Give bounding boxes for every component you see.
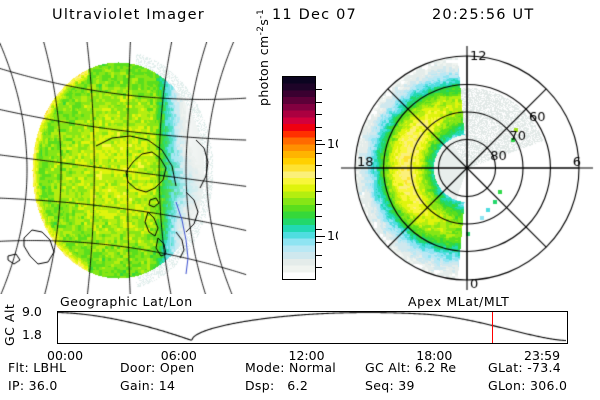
status-flt: Flt: LBHL bbox=[8, 360, 66, 375]
geographic-aurora-image bbox=[0, 42, 262, 294]
orbit-altitude-strip: GC Alt 9.0 1.8 00:0006:0012:0018:0023:59 bbox=[0, 306, 600, 356]
colorbar: 10010 photon cm-2s-1 bbox=[282, 76, 336, 282]
status-dsp: Dsp: 6.2 bbox=[245, 378, 308, 393]
uvi-display: Ultraviolet Imager 11 Dec 07 20:25:56 UT… bbox=[0, 0, 600, 400]
gc-alt-tick-min: 1.8 bbox=[22, 327, 42, 342]
observation-date: 11 Dec 07 bbox=[272, 7, 357, 23]
instrument-title: Ultraviolet Imager bbox=[52, 7, 205, 23]
geographic-image-panel bbox=[0, 42, 262, 294]
current-time-marker bbox=[492, 312, 493, 343]
orbit-altitude-curve bbox=[57, 311, 566, 342]
status-seq: Seq: 39 bbox=[365, 378, 415, 393]
observation-time: 20:25:56 UT bbox=[432, 7, 534, 23]
gc-alt-axis-label: GC Alt bbox=[2, 304, 17, 346]
header: Ultraviolet Imager 11 Dec 07 20:25:56 UT bbox=[0, 7, 600, 29]
status-footer: Flt: LBHL Door: Open Mode: Normal GC Alt… bbox=[0, 360, 600, 400]
status-glat: GLat: -73.4 bbox=[488, 360, 561, 375]
gc-alt-tick-max: 9.0 bbox=[22, 304, 42, 319]
status-door: Door: Open bbox=[120, 360, 194, 375]
status-gc-alt: GC Alt: 6.2 Re bbox=[365, 360, 456, 375]
colorbar-gradient bbox=[282, 76, 316, 280]
colorbar-axis-title: photon cm-2s-1 bbox=[256, 0, 271, 106]
polar-mlt-panel bbox=[338, 42, 600, 294]
status-glon: GLon: 306.0 bbox=[488, 378, 567, 393]
status-mode: Mode: Normal bbox=[245, 360, 336, 375]
polar-aurora-image bbox=[338, 42, 600, 294]
status-gain: Gain: 14 bbox=[120, 378, 175, 393]
status-ip: IP: 36.0 bbox=[8, 378, 58, 393]
